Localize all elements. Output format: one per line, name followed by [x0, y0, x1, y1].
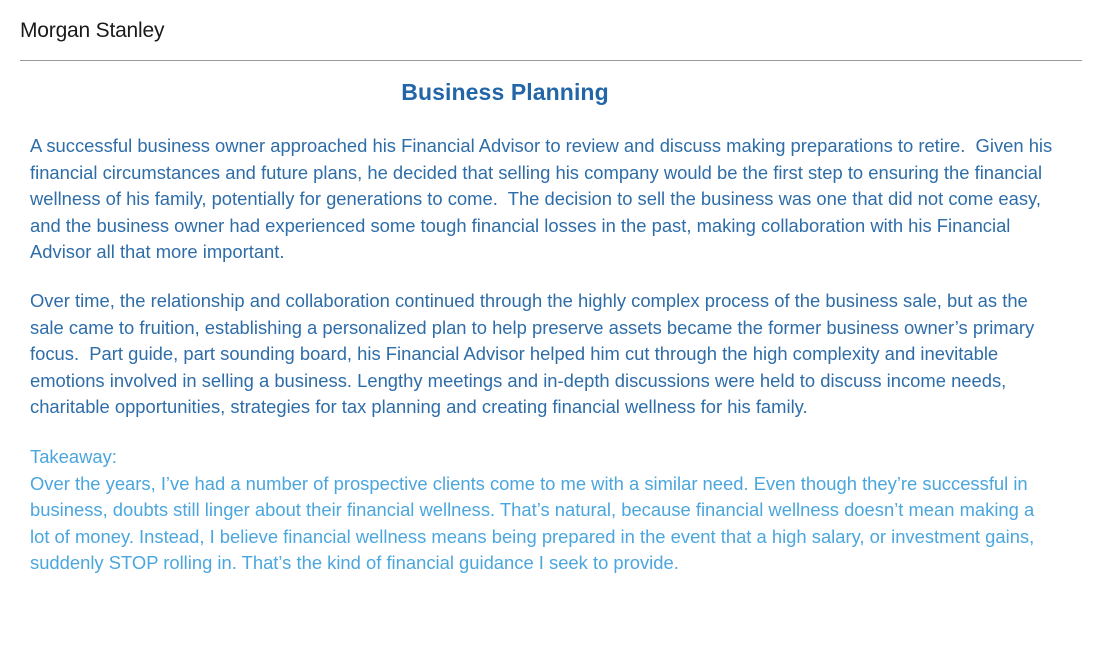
- takeaway-text: Over the years, I’ve had a number of pro…: [30, 471, 1056, 577]
- body-paragraph-1: A successful business owner approached h…: [30, 133, 1056, 266]
- header-divider: [20, 60, 1082, 61]
- slide-header: Morgan Stanley: [0, 0, 1102, 60]
- slide-canvas: Morgan Stanley Business Planning A succe…: [0, 0, 1102, 666]
- takeaway-section: Takeaway: Over the years, I’ve had a num…: [30, 444, 1056, 577]
- body-paragraph-2: Over time, the relationship and collabor…: [30, 288, 1056, 421]
- page-title: Business Planning: [0, 79, 1010, 106]
- morgan-stanley-logo: Morgan Stanley: [20, 20, 164, 41]
- slide-body: A successful business owner approached h…: [30, 133, 1056, 577]
- takeaway-label: Takeaway:: [30, 444, 1056, 471]
